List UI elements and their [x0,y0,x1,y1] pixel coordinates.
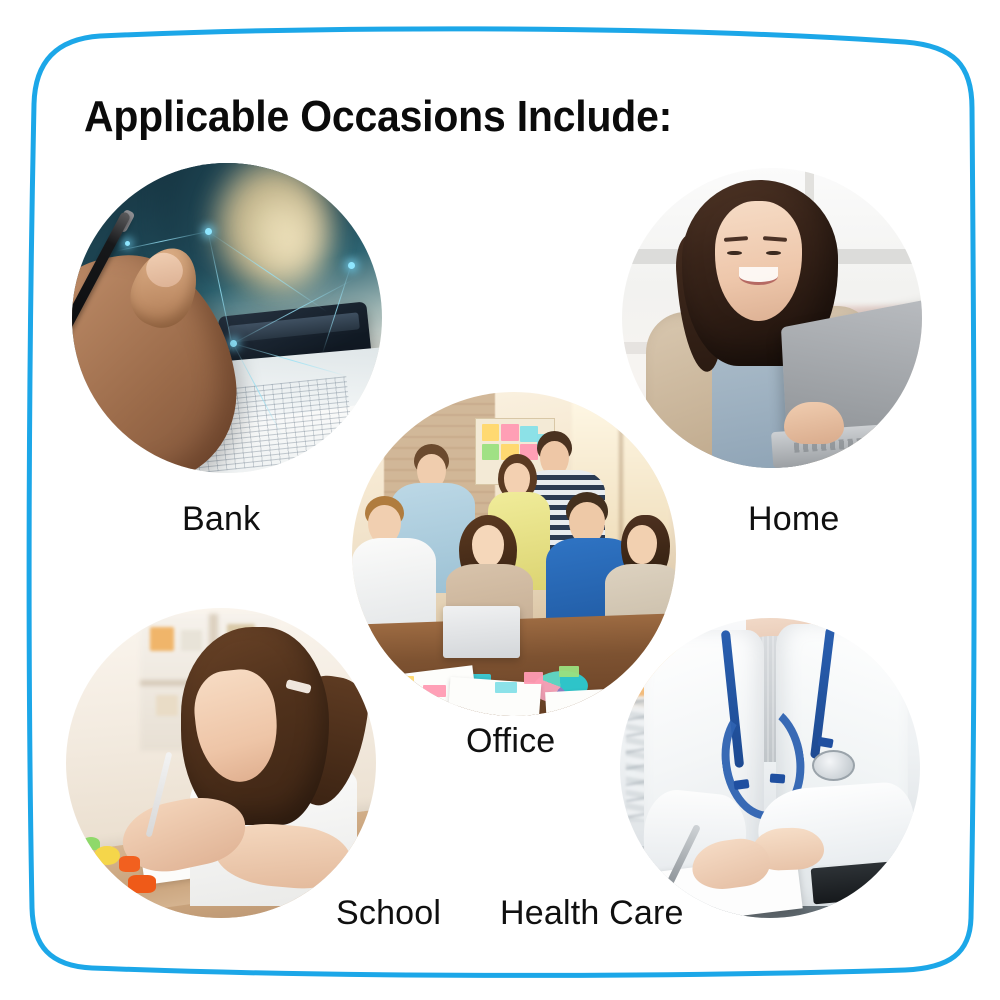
health-care-photo [620,618,920,918]
page-title: Applicable Occasions Include: [84,92,672,142]
occasion-circle-health-care [620,618,920,918]
occasion-label-bank: Bank [182,500,260,539]
occasion-label-school: School [336,894,441,933]
occasion-label-health-care: Health Care [500,894,684,933]
school-photo [66,608,376,918]
occasion-circle-bank [72,163,382,473]
occasion-label-office: Office [466,722,555,761]
occasion-circle-school [66,608,376,918]
poster-canvas: Applicable Occasions Include: [0,0,1000,1000]
occasion-label-home: Home [748,500,840,539]
bank-photo [72,163,382,473]
